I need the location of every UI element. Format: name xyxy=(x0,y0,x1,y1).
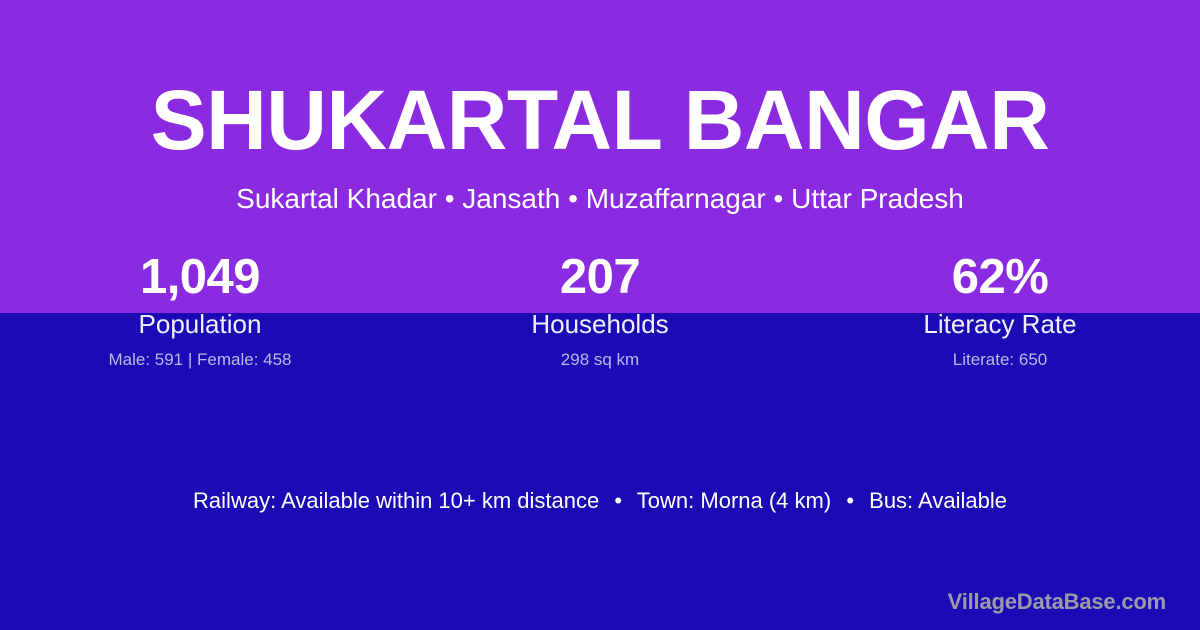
stat-literacy-sub: Literate: 650 xyxy=(800,349,1200,370)
breadcrumb: Sukartal Khadar • Jansath • Muzaffarnaga… xyxy=(0,182,1200,216)
stat-households-sub: 298 sq km xyxy=(400,349,800,370)
stats-row: 1,049 Population Male: 591 | Female: 458… xyxy=(0,248,1200,370)
amenities-line: Railway: Available within 10+ km distanc… xyxy=(0,487,1200,515)
stat-population-value: 1,049 xyxy=(0,248,400,306)
stat-literacy-value: 62% xyxy=(800,248,1200,306)
fact-railway: Railway: Available within 10+ km distanc… xyxy=(193,488,599,513)
stat-households-label: Households xyxy=(400,309,800,340)
stat-population-label: Population xyxy=(0,309,400,340)
stat-literacy: 62% Literacy Rate Literate: 650 xyxy=(800,248,1200,370)
fact-separator-2: • xyxy=(837,487,863,515)
stat-households: 207 Households 298 sq km xyxy=(400,248,800,370)
site-watermark: VillageDataBase.com xyxy=(948,588,1166,616)
stat-literacy-label: Literacy Rate xyxy=(800,309,1200,340)
page-title: SHUKARTAL BANGAR xyxy=(0,78,1200,162)
fact-bus: Bus: Available xyxy=(869,488,1007,513)
fact-separator-1: • xyxy=(605,487,631,515)
stat-population: 1,049 Population Male: 591 | Female: 458 xyxy=(0,248,400,370)
stat-population-sub: Male: 591 | Female: 458 xyxy=(0,349,400,370)
stat-households-value: 207 xyxy=(400,248,800,306)
village-info-card: SHUKARTAL BANGAR Sukartal Khadar • Jansa… xyxy=(0,0,1200,630)
fact-town: Town: Morna (4 km) xyxy=(637,488,831,513)
